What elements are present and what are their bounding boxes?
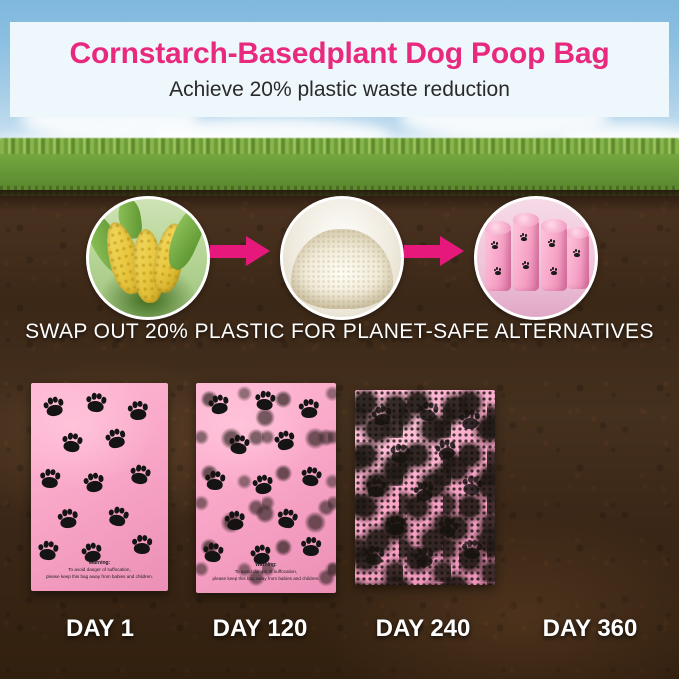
powder-pile	[291, 229, 393, 309]
bag-warning-text: Warning: To avoid danger of suffocation,…	[196, 562, 336, 583]
page-subtitle: Achieve 20% plastic waste reduction	[169, 78, 510, 101]
day-label-120: DAY 120	[180, 615, 340, 643]
paw-print-icon	[127, 463, 152, 487]
bag-roll-end	[485, 221, 511, 235]
header-card: Cornstarch-Basedplant Dog Poop Bag Achie…	[10, 22, 669, 117]
paw-print-icon	[56, 508, 80, 530]
cornstarch-powder-image	[280, 196, 404, 320]
bag-roll	[567, 233, 589, 289]
paw-print-icon	[547, 239, 556, 247]
bag-day-1: Warning: To avoid danger of suffocation,…	[31, 383, 168, 591]
paw-print-icon	[519, 233, 528, 241]
bag-warning-text: Warning: To avoid danger of suffocation,…	[31, 560, 168, 581]
paw-print-icon	[223, 510, 247, 532]
bag-day-240: Warning: To avoid danger of suffocation,…	[355, 390, 495, 585]
warning-title: Warning:	[196, 562, 336, 570]
paw-print-icon	[251, 474, 276, 497]
grass-blades	[0, 138, 679, 154]
paw-print-icon	[126, 400, 149, 421]
day-label-360: DAY 360	[505, 615, 675, 643]
process-diagram	[0, 196, 679, 316]
paw-print-icon	[206, 393, 231, 417]
paw-print-icon	[300, 537, 323, 558]
day-label-1: DAY 1	[20, 615, 180, 643]
bag-warning-text: Warning: To avoid danger of suffocation,…	[355, 554, 495, 575]
paw-print-icon	[298, 465, 323, 489]
bag-roll-end	[541, 219, 567, 233]
paw-print-icon	[41, 395, 66, 419]
bag-roll-end	[513, 213, 539, 227]
paw-print-icon	[131, 535, 154, 556]
warning-title: Warning:	[31, 560, 168, 568]
paw-print-icon	[274, 507, 300, 531]
bag-roll	[485, 227, 511, 291]
corn-cobs-image	[86, 196, 210, 320]
paw-print-icon	[105, 505, 131, 529]
warning-title: Warning:	[355, 554, 495, 562]
paw-print-icon	[84, 392, 108, 414]
warning-line-2: please keep this bag away from babies an…	[196, 576, 336, 583]
paw-print-icon	[521, 261, 530, 269]
paw-print-icon	[253, 390, 277, 412]
arrow-powder-to-rolls	[404, 236, 464, 266]
warning-line-2: please keep this bag away from babies an…	[31, 574, 168, 581]
day-labels: DAY 1 DAY 120 DAY 240 DAY 360	[0, 615, 679, 649]
bag-rolls-image	[474, 196, 598, 320]
paw-print-icon	[272, 429, 298, 453]
arrow-corn-to-powder	[210, 236, 270, 266]
poster: Cornstarch-Basedplant Dog Poop Bag Achie…	[0, 0, 679, 679]
paw-print-icon	[297, 398, 320, 419]
paw-print-icon	[82, 472, 107, 495]
swap-banner: SWAP OUT 20% PLASTIC FOR PLANET-SAFE ALT…	[0, 320, 679, 344]
paw-print-icon	[490, 241, 499, 249]
bag-roll	[513, 219, 539, 291]
paw-print-icon	[38, 468, 61, 489]
paw-print-icon	[103, 427, 129, 451]
paw-print-icon	[60, 432, 85, 455]
bag-roll-end	[567, 227, 589, 239]
paw-print-icon	[549, 267, 558, 275]
paw-print-icon	[572, 249, 581, 257]
warning-line-2: please keep this bag away from babies an…	[355, 568, 495, 575]
paw-print-icon	[493, 267, 502, 275]
warning-line-1: To avoid danger of suffocation,	[31, 567, 168, 574]
paw-print-icon	[203, 470, 226, 491]
bag-roll	[541, 225, 567, 291]
bag-day-120: Warning: To avoid danger of suffocation,…	[196, 383, 336, 593]
warning-line-1: To avoid danger of suffocation,	[196, 569, 336, 576]
warning-line-1: To avoid danger of suffocation,	[355, 561, 495, 568]
paw-print-icon	[227, 434, 252, 457]
day-label-240: DAY 240	[338, 615, 508, 643]
page-title: Cornstarch-Basedplant Dog Poop Bag	[70, 37, 610, 70]
